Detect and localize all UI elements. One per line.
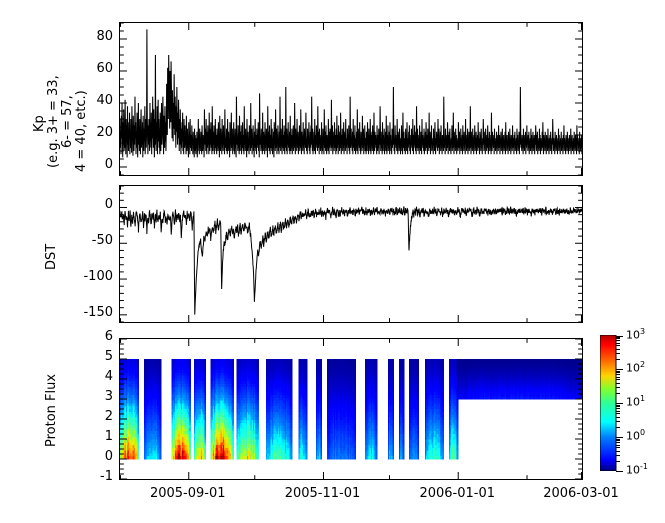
flux-yticks-item: 2	[61, 409, 113, 424]
colorbar-minor-tick	[616, 411, 620, 412]
colorbar-minor-tick	[616, 393, 620, 394]
colorbar-major-tick	[616, 471, 623, 472]
colorbar-minor-tick	[616, 349, 620, 350]
colorbar-minor-tick	[616, 405, 620, 406]
colorbar-minor-tick	[616, 427, 620, 428]
colorbar-minor-tick	[616, 440, 620, 441]
kp-yticks-item: 80	[61, 29, 113, 44]
colorbar-minor-tick	[616, 359, 620, 360]
kp-yticks-item: 40	[61, 93, 113, 108]
colorbar-minor-tick	[616, 417, 620, 418]
colorbar-minor-tick	[616, 445, 620, 446]
colorbar-minor-tick	[616, 353, 620, 354]
kp-panel	[119, 22, 583, 176]
kp-yticks-item: 60	[61, 61, 113, 76]
colorbar-minor-tick	[616, 345, 620, 346]
colorbar-minor-tick	[616, 413, 620, 414]
x-axis-tick-label: 2006-01-01	[409, 486, 505, 501]
dst-panel	[119, 185, 583, 323]
colorbar-minor-tick	[616, 340, 620, 341]
colorbar-minor-tick	[616, 379, 620, 380]
colorbar-minor-tick	[616, 374, 620, 375]
dst-yticks-item: -150	[61, 305, 113, 320]
dst-yticks-item: -100	[61, 269, 113, 284]
flux-yticks-item: 4	[61, 369, 113, 384]
dst-axis-title: DST	[44, 244, 59, 270]
colorbar-minor-tick	[616, 455, 620, 456]
colorbar-tick-label: 101	[626, 394, 645, 409]
colorbar-gradient	[600, 335, 617, 471]
kp-yticks-item: 20	[61, 125, 113, 140]
kp-axis-title-line2: (e.g. 3+ = 33,	[46, 75, 61, 168]
colorbar-minor-tick	[616, 442, 620, 443]
flux-yticks-item: 3	[61, 389, 113, 404]
proton-flux-spectrogram	[120, 339, 582, 479]
flux-yticks-item: 5	[61, 349, 113, 364]
colorbar-minor-tick	[616, 461, 620, 462]
colorbar-minor-tick	[616, 387, 620, 388]
colorbar-minor-tick	[616, 439, 620, 440]
proton-flux-panel	[119, 338, 583, 480]
flux-yticks-item: -1	[61, 469, 113, 484]
colorbar-minor-tick	[616, 447, 620, 448]
colorbar	[600, 335, 617, 471]
x-axis-tick-label: 2006-03-01	[533, 486, 629, 501]
flux-axis-title: Proton Flux	[44, 374, 59, 447]
colorbar-minor-tick	[616, 421, 620, 422]
flux-yticks-item: 6	[61, 329, 113, 344]
x-axis-tick-label: 2005-11-01	[275, 486, 371, 501]
colorbar-tick-label: 103	[626, 327, 645, 342]
colorbar-minor-tick	[616, 337, 620, 338]
flux-yticks-item: 1	[61, 429, 113, 444]
colorbar-minor-tick	[616, 372, 620, 373]
colorbar-tick-label: 10-1	[626, 462, 648, 477]
dst-yticks-item: -50	[61, 233, 113, 248]
kp-series-plot	[120, 23, 582, 175]
dst-series-plot	[120, 186, 582, 322]
kp-axis-title-line1: Kp	[32, 115, 47, 132]
colorbar-minor-tick	[616, 383, 620, 384]
colorbar-minor-tick	[616, 451, 620, 452]
colorbar-minor-tick	[616, 343, 620, 344]
dst-yticks-item: 0	[61, 197, 113, 212]
colorbar-minor-tick	[616, 371, 620, 372]
figure-root: Kp (e.g. 3+ = 33, 6- = 57, 4 = 40, etc.)…	[0, 0, 665, 523]
x-axis-tick-label: 2005-09-01	[140, 486, 236, 501]
colorbar-tick-label: 102	[626, 360, 645, 375]
colorbar-minor-tick	[616, 338, 620, 339]
colorbar-minor-tick	[616, 408, 620, 409]
colorbar-tick-label: 100	[626, 428, 645, 443]
colorbar-minor-tick	[616, 377, 620, 378]
flux-yticks-item: 0	[61, 449, 113, 464]
kp-yticks-item: 0	[61, 157, 113, 172]
colorbar-minor-tick	[616, 406, 620, 407]
